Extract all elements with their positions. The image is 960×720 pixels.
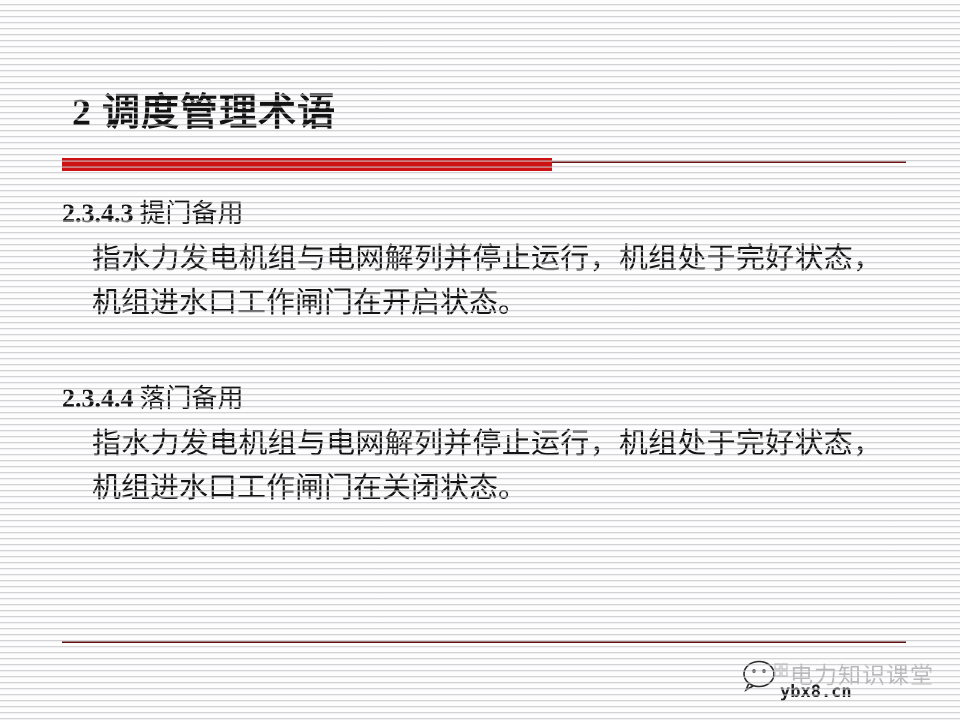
term-heading: 2.3.4.3提门备用 (62, 196, 912, 231)
term-entry-2: 2.3.4.4落门备用 指水力发电机组与电网解列并停止运行，机组处于完好状态，机… (62, 381, 912, 510)
term-code: 2.3.4.3 (62, 199, 134, 228)
watermark-url: ybx8.cn (780, 682, 852, 702)
page-title-text: 调度管理术语 (102, 92, 336, 134)
term-list: 2.3.4.3提门备用 指水力发电机组与电网解列并停止运行，机组处于完好状态，机… (62, 196, 912, 511)
watermark: 电力知识课堂 ybx8.cn (742, 656, 954, 714)
page-title: 2调度管理术语 (72, 92, 336, 136)
title-divider (62, 158, 906, 172)
term-heading: 2.3.4.4落门备用 (62, 381, 912, 416)
term-name: 提门备用 (140, 199, 244, 228)
slide-canvas: 2调度管理术语 2.3.4.3提门备用 指水力发电机组与电网解列并停止运行，机组… (0, 0, 960, 720)
term-name: 落门备用 (140, 384, 244, 413)
term-code: 2.3.4.4 (62, 384, 134, 413)
footer-divider (62, 641, 906, 643)
title-divider-thin-line (552, 161, 906, 163)
term-definition: 指水力发电机组与电网解列并停止运行，机组处于完好状态，机组进水口工作闸门在关闭状… (62, 422, 882, 510)
title-divider-thick-bar (62, 158, 552, 171)
page-title-number: 2 (72, 92, 92, 134)
term-entry-1: 2.3.4.3提门备用 指水力发电机组与电网解列并停止运行，机组处于完好状态，机… (62, 196, 912, 325)
term-definition: 指水力发电机组与电网解列并停止运行，机组处于完好状态，机组进水口工作闸门在开启状… (62, 237, 882, 325)
